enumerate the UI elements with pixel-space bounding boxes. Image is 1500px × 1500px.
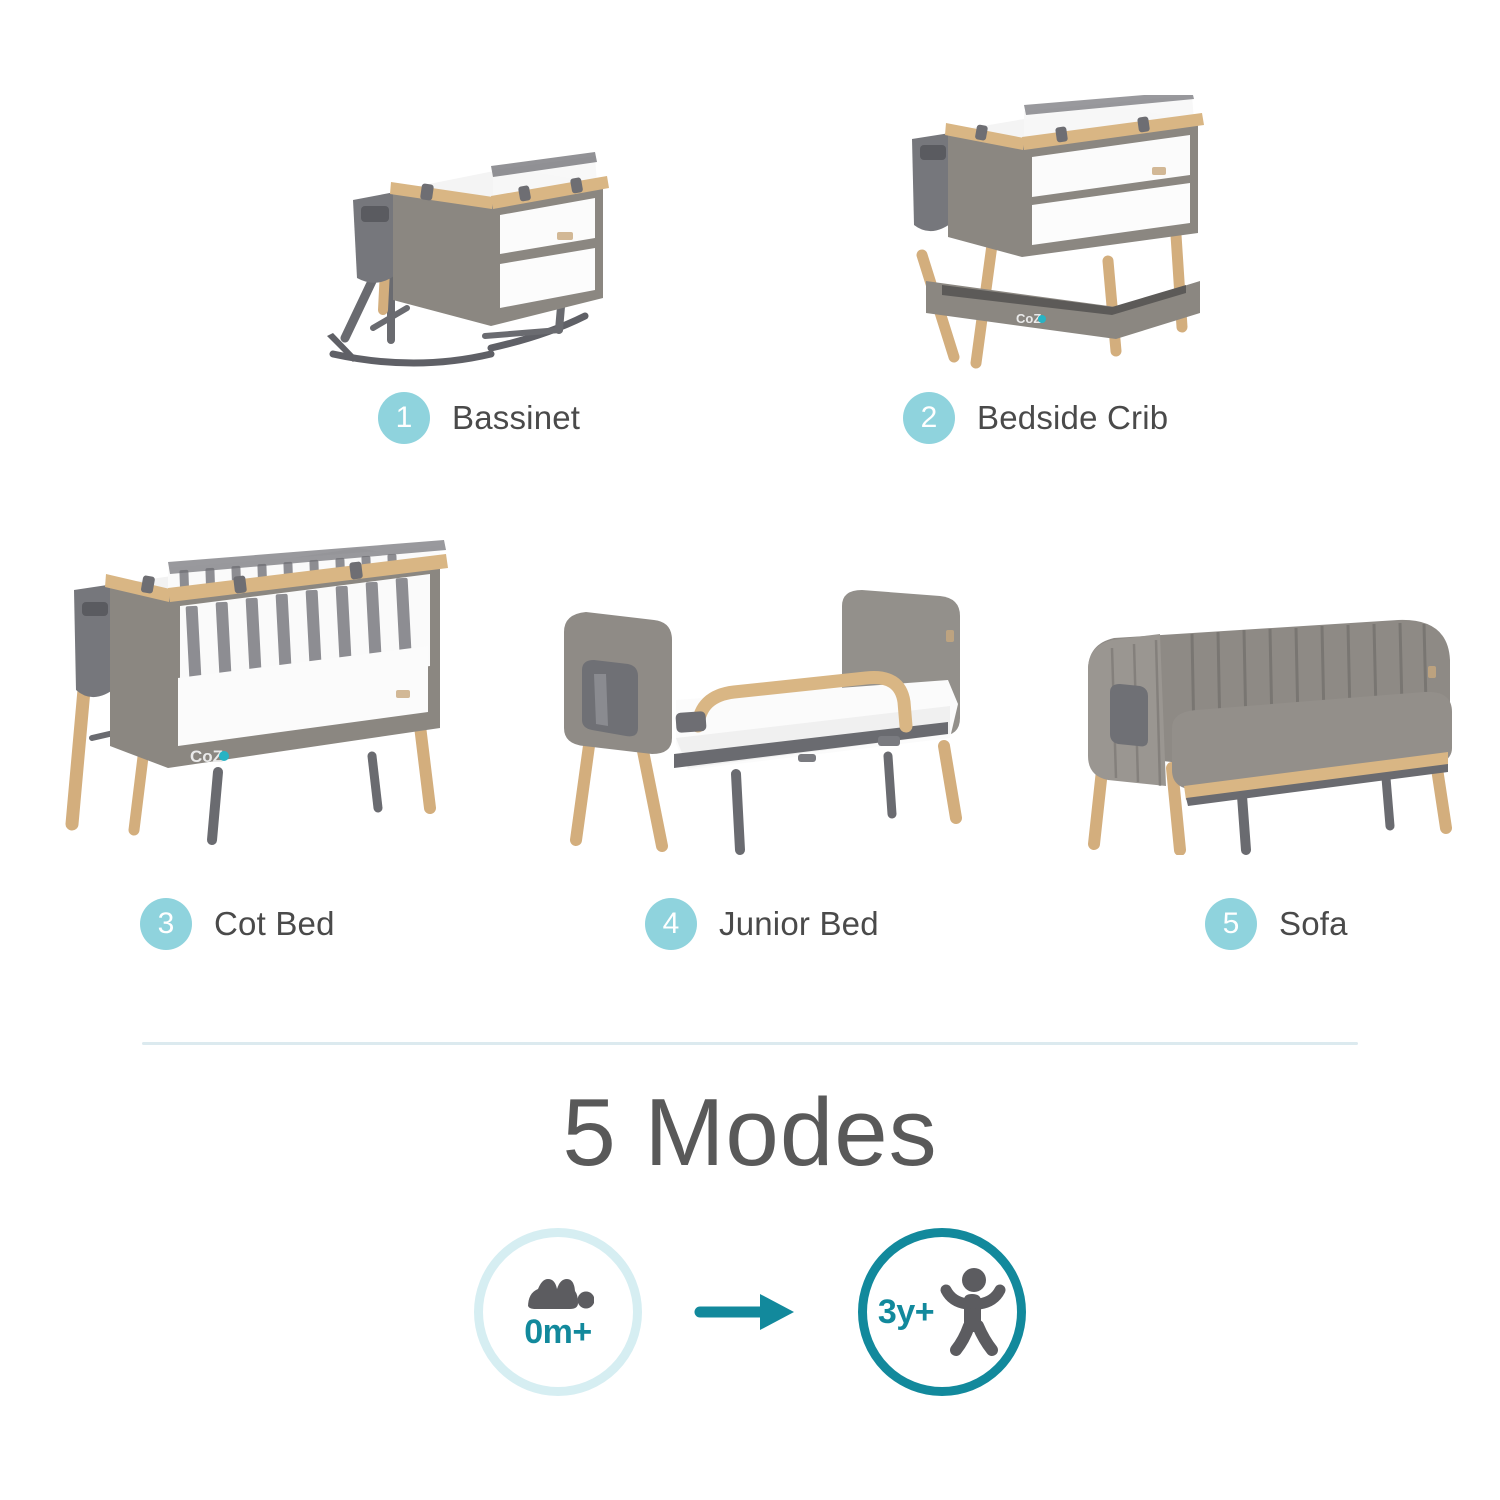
- age-from-text: 0m+: [524, 1313, 592, 1352]
- mode-label-text-3: Cot Bed: [214, 905, 335, 943]
- brand-logo-text: CoZ: [190, 747, 223, 766]
- mode-label-text-5: Sofa: [1279, 905, 1348, 943]
- cot-bed-product-image: CoZ: [48, 540, 458, 860]
- age-badge-from: 0m+: [474, 1228, 642, 1396]
- mode-label-4: 4 Junior Bed: [645, 898, 879, 950]
- badge-number-2: 2: [903, 392, 955, 444]
- arrow-right-icon: [690, 1282, 810, 1342]
- bedside-crib-product-image: CoZ: [880, 95, 1220, 380]
- junior-bed-product-image: [548, 578, 978, 858]
- badge-number-1: 1: [378, 392, 430, 444]
- bassinet-product-image: [295, 140, 625, 380]
- standing-child-icon: [936, 1266, 1006, 1358]
- mode-label-text-1: Bassinet: [452, 399, 580, 437]
- section-divider: [142, 1042, 1358, 1045]
- sofa-product-image: [1068, 600, 1478, 855]
- mode-label-text-4: Junior Bed: [719, 905, 879, 943]
- mode-label-2: 2 Bedside Crib: [903, 392, 1168, 444]
- product-infographic: 1 Bassinet CoZ: [0, 0, 1500, 1500]
- age-badge-to: 3y+: [858, 1228, 1026, 1396]
- age-range-row: 0m+ 3y+: [0, 1228, 1500, 1396]
- mode-label-1: 1 Bassinet: [378, 392, 580, 444]
- lying-baby-icon: [522, 1273, 594, 1313]
- brand-logo-text: CoZ: [1016, 311, 1041, 326]
- badge-number-3: 3: [140, 898, 192, 950]
- age-to-text: 3y+: [878, 1293, 934, 1332]
- mode-label-text-2: Bedside Crib: [977, 399, 1168, 437]
- badge-number-5: 5: [1205, 898, 1257, 950]
- badge-number-4: 4: [645, 898, 697, 950]
- page-title: 5 Modes: [0, 1078, 1500, 1188]
- mode-label-5: 5 Sofa: [1205, 898, 1348, 950]
- mode-label-3: 3 Cot Bed: [140, 898, 335, 950]
